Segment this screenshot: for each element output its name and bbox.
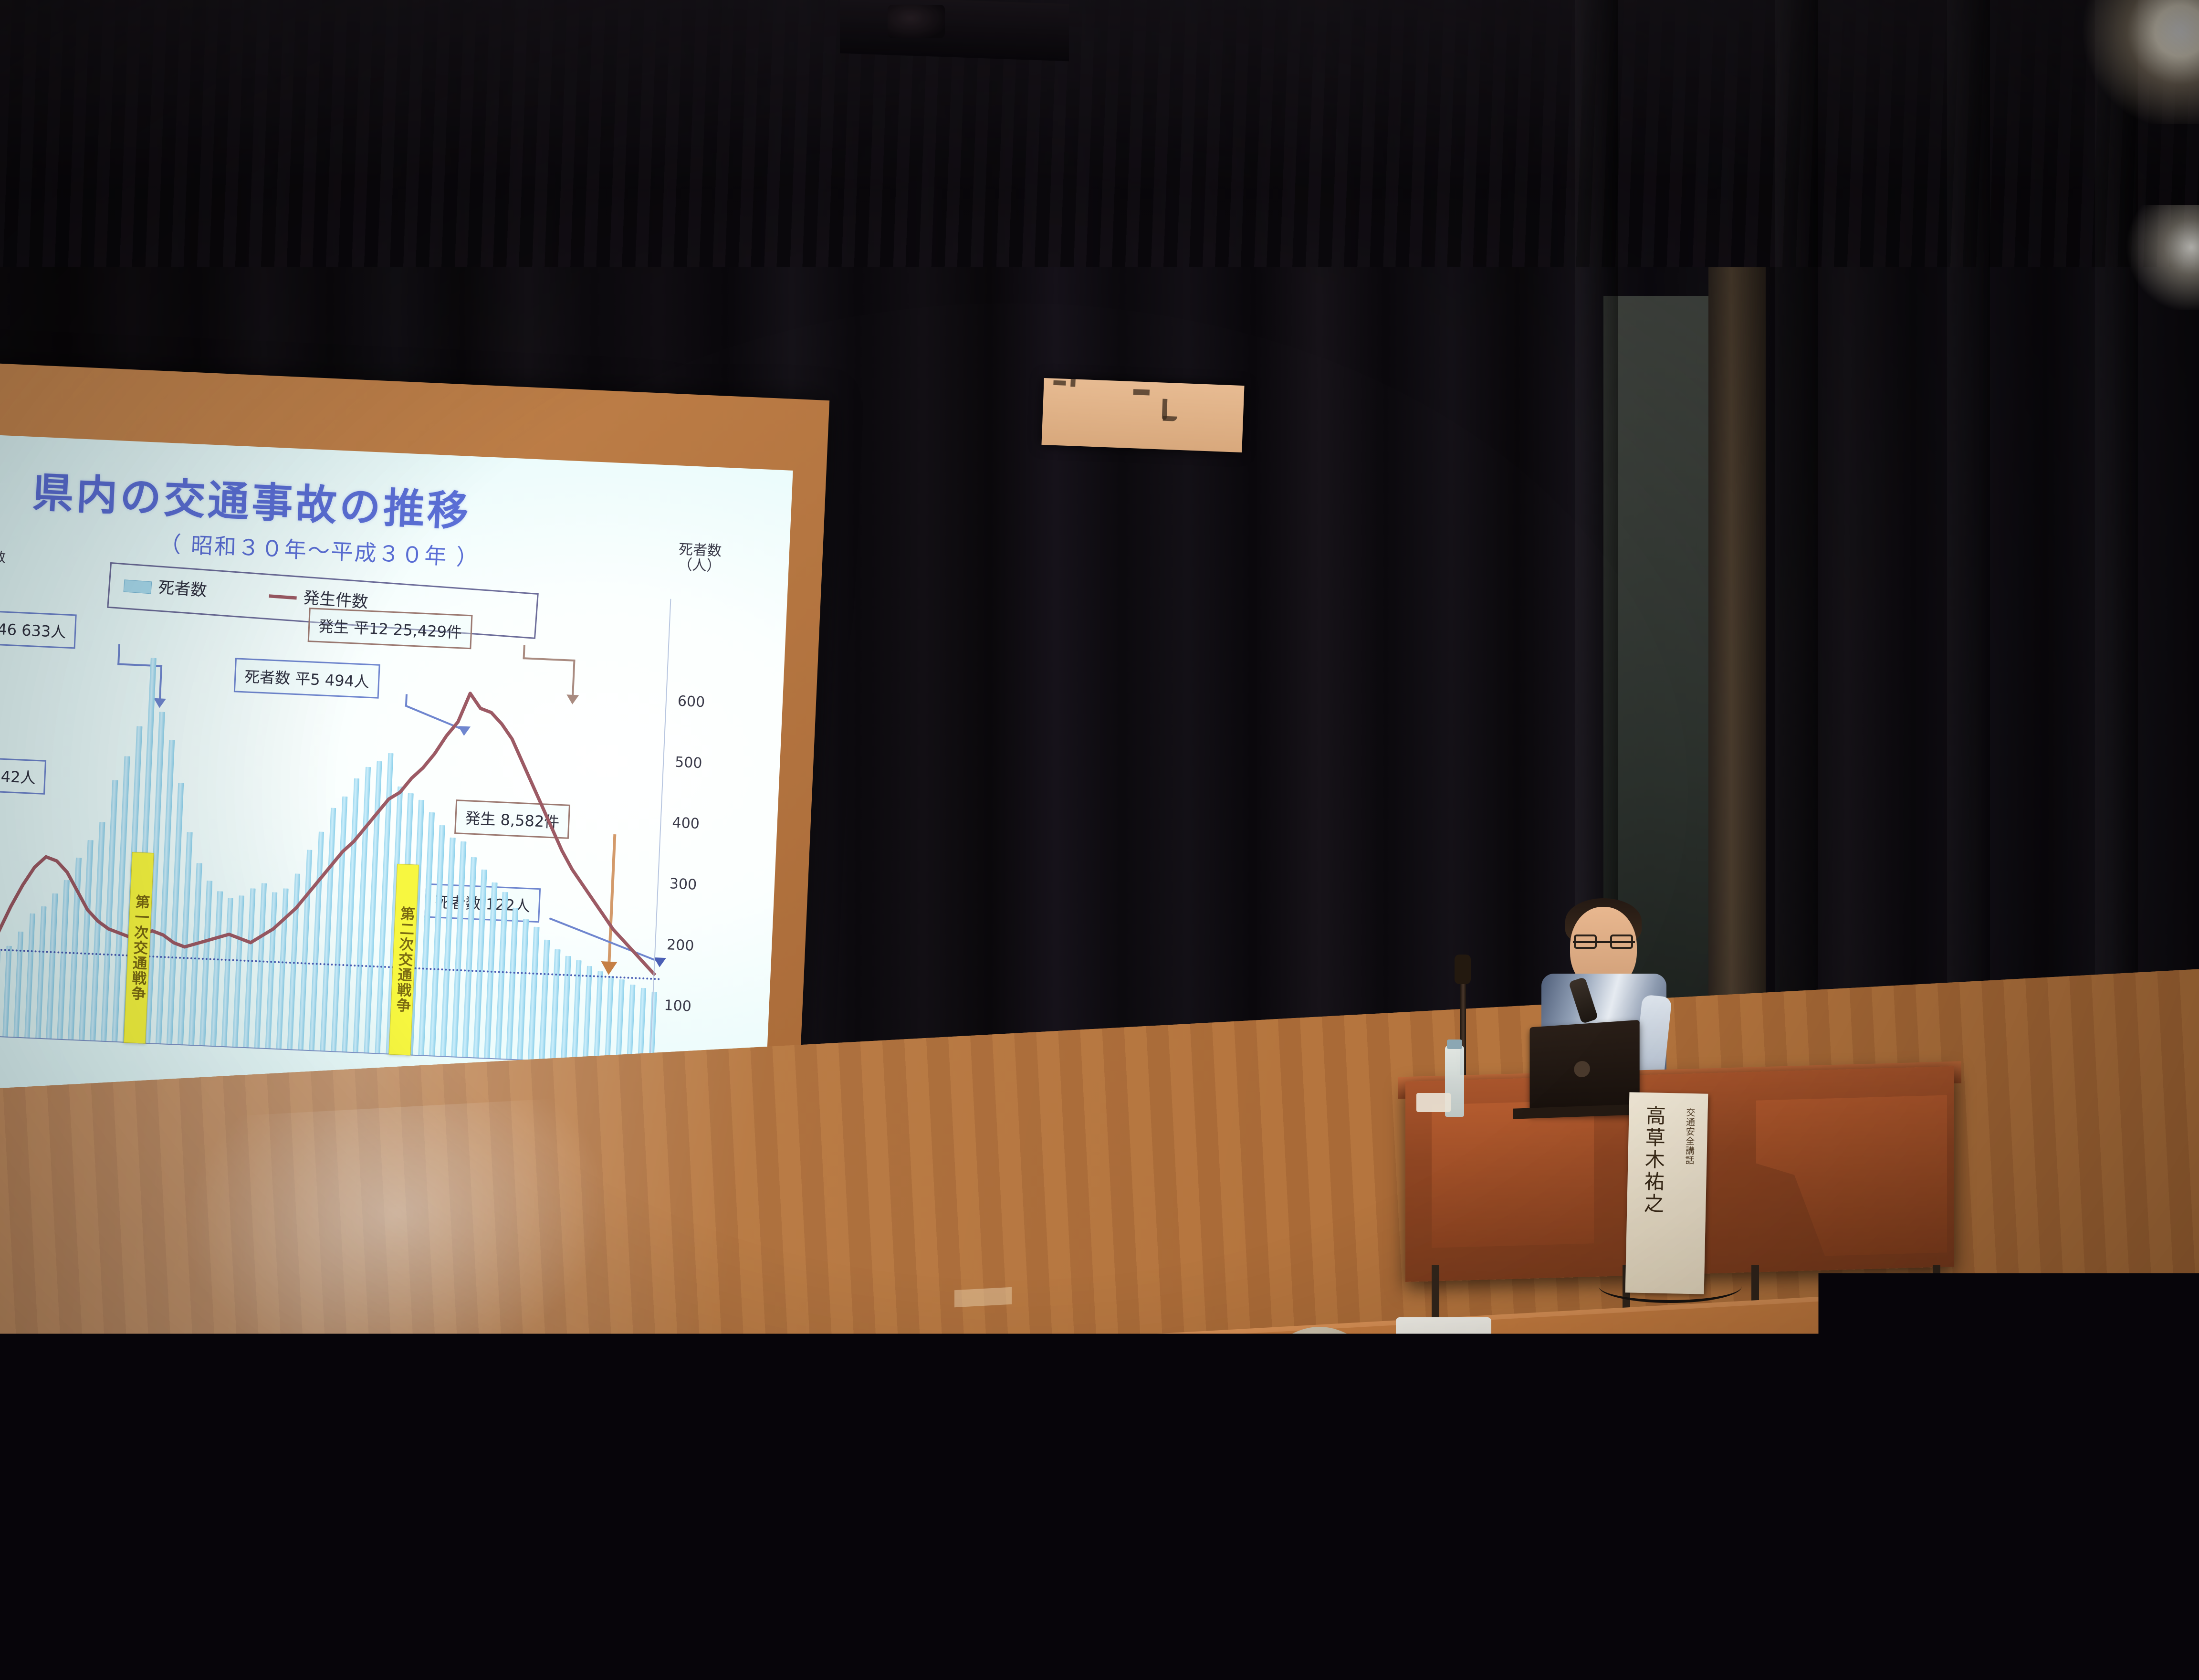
glasses-bridge-icon <box>1573 941 1635 943</box>
y-tick-label: 300 <box>669 875 697 893</box>
slide-title: 県内の交通事故の推移 <box>31 459 473 538</box>
water-bottle-cap <box>1447 1039 1462 1049</box>
projector-vent-icon <box>1407 1339 1450 1377</box>
chart-plot-area: 死者数 （人） 0100200300400500600 S33年S36年S39年… <box>0 640 674 1067</box>
audience-member-head <box>1246 1327 1393 1522</box>
legend-label-deaths: 死者数 <box>157 577 208 600</box>
microphone-icon <box>1455 955 1471 984</box>
curtain-fold <box>1947 0 1990 1098</box>
curtain-valance <box>0 0 2199 267</box>
y-tick-label: 100 <box>664 997 692 1015</box>
seat-clip <box>1393 1470 1420 1481</box>
curtain-fold <box>1775 0 1818 1098</box>
audience-member-head <box>1847 1312 2071 1561</box>
placard-subtitle: 交通安全講話 <box>1672 1107 1697 1265</box>
curtain-fold <box>2095 0 2138 1098</box>
line-series-accidents <box>0 640 674 1067</box>
ceiling-lighting-rig <box>840 0 1069 61</box>
floor-cable <box>1599 1270 1742 1303</box>
right-axis-title: 死者数 （人） <box>678 542 722 574</box>
y-tick-label: 400 <box>672 815 700 833</box>
legend-line-accidents <box>269 594 296 599</box>
placard-name: 高草木祐之 <box>1637 1105 1669 1282</box>
laptop[interactable] <box>1530 1020 1640 1114</box>
paper-sheet <box>1416 1093 1451 1112</box>
overhead-banner-sign <box>1041 378 1244 452</box>
seat-clip <box>1723 1451 1749 1462</box>
audience-member-hand <box>439 1429 510 1526</box>
lecture-hall-scene: 県内の交通事故の推移 （ 昭和３０年～平成３０年 ） 件数 死者数 発生件数 死… <box>0 0 2199 1649</box>
left-axis-label: 件数 <box>0 546 6 566</box>
stage-floor-patch <box>954 1287 1012 1307</box>
callout-accidents-h12: 発生 平12 25,429件 <box>308 608 473 649</box>
house-light-glow <box>2075 0 2199 124</box>
house-light-glow <box>2123 205 2199 310</box>
y-tick-label: 500 <box>674 754 702 772</box>
audience-member-head <box>72 1522 277 1680</box>
speaker-name-placard: 高草木祐之 交通安全講話 <box>1625 1092 1708 1294</box>
podium-front-panel <box>1432 1100 1594 1248</box>
stage-lamp-icon <box>888 5 945 38</box>
legend-swatch-deaths <box>124 579 152 594</box>
laptop-logo-icon <box>1574 1060 1590 1077</box>
callout-leader <box>523 657 575 661</box>
y-tick-label: 600 <box>677 693 705 711</box>
y-tick-label: 200 <box>666 936 694 955</box>
